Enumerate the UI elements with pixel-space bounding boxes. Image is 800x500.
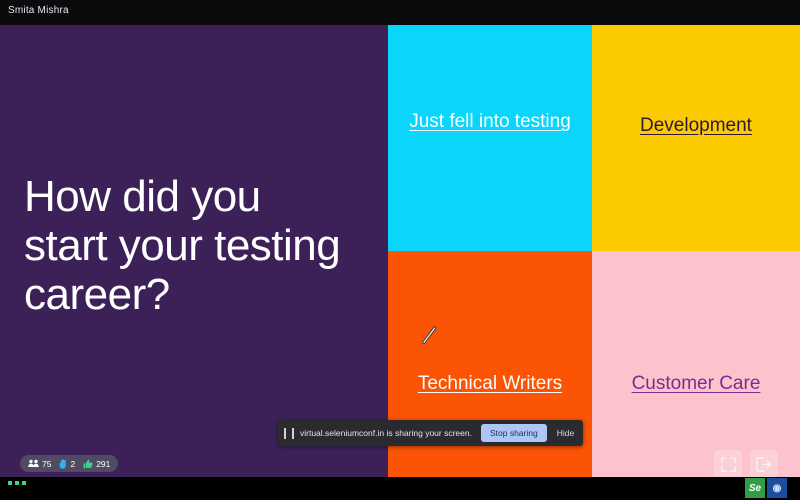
meeting-top-bar: Smita Mishra bbox=[0, 0, 800, 25]
hand-raised-icon bbox=[59, 459, 67, 469]
reactions-stat[interactable]: 291 bbox=[83, 459, 110, 469]
presenter-name-label: Smita Mishra bbox=[8, 5, 69, 16]
raised-hands-stat[interactable]: 2 bbox=[59, 459, 75, 469]
quadrant-label: Technical Writers bbox=[418, 372, 562, 396]
presentation-slide: How did you start your testing career? J… bbox=[0, 25, 800, 477]
raised-hands-value: 2 bbox=[70, 459, 75, 469]
quadrant-label: Development bbox=[640, 114, 752, 138]
slide-question-panel: How did you start your testing career? bbox=[0, 25, 388, 477]
quadrant-label: Just fell into testing bbox=[409, 110, 571, 134]
more-options-button[interactable] bbox=[8, 481, 26, 485]
screen-sharing-notification: virtual.seleniumconf.in is sharing your … bbox=[278, 420, 583, 446]
leave-meeting-button[interactable] bbox=[750, 450, 778, 478]
fullscreen-button[interactable] bbox=[714, 450, 742, 478]
reactions-value: 291 bbox=[96, 459, 110, 469]
quadrant-development[interactable]: Development bbox=[592, 25, 800, 251]
quadrant-customer-care[interactable]: Customer Care bbox=[592, 251, 800, 477]
taskbar-icon-browser[interactable]: ◉ bbox=[767, 478, 787, 498]
shared-screen-stage: How did you start your testing career? J… bbox=[0, 25, 800, 477]
quadrant-label: Customer Care bbox=[632, 372, 761, 396]
pause-icon bbox=[284, 428, 294, 439]
slide-question-text: How did you start your testing career? bbox=[24, 173, 354, 319]
sharing-message: virtual.seleniumconf.in is sharing your … bbox=[300, 428, 472, 438]
thumbs-up-icon bbox=[83, 459, 93, 469]
taskbar-icon-selenium[interactable]: Se bbox=[745, 478, 765, 498]
taskbar-icon-group: Se ◉ bbox=[745, 478, 787, 498]
people-icon bbox=[28, 459, 39, 468]
hide-notification-link[interactable]: Hide bbox=[557, 428, 574, 438]
quadrant-just-fell-into-testing[interactable]: Just fell into testing bbox=[388, 25, 592, 251]
os-taskbar bbox=[0, 477, 800, 500]
stop-sharing-button[interactable]: Stop sharing bbox=[481, 424, 547, 442]
participants-count-stat[interactable]: 75 bbox=[28, 459, 51, 469]
fullscreen-icon bbox=[721, 457, 736, 472]
participants-count-value: 75 bbox=[42, 459, 51, 469]
leave-meeting-icon bbox=[756, 457, 772, 472]
meeting-stats-pill: 75 2 291 bbox=[20, 455, 118, 472]
